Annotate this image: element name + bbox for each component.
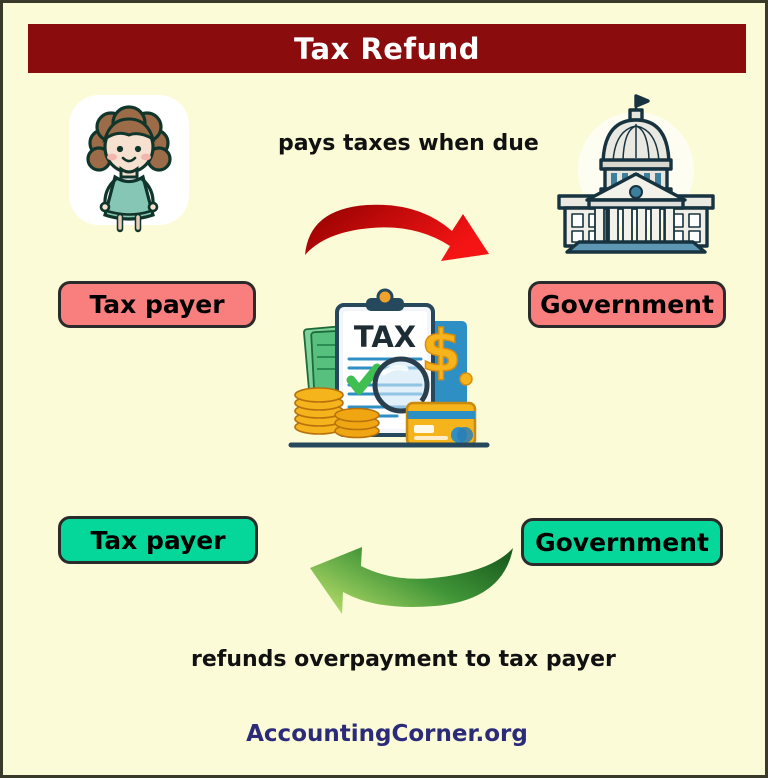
page-title: Tax Refund [294,32,480,66]
taxpayer-label-bottom[interactable]: Tax payer [58,516,258,564]
tax-clipboard-illustration: TAX $ [281,285,497,457]
top-flow-caption: pays taxes when due [278,131,539,156]
government-label-top-text: Government [540,290,714,319]
red-arrow-right-icon [303,193,493,273]
government-label-bottom[interactable]: Government [521,518,723,566]
svg-text:TAX: TAX [354,320,416,354]
girl-avatar-illustration [65,91,193,251]
bottom-flow-caption: refunds overpayment to tax payer [191,647,616,672]
diagram-canvas: Tax Refund [0,0,768,778]
capitol-building-illustration [543,88,729,256]
taxpayer-label-bottom-text: Tax payer [90,526,225,555]
government-label-bottom-text: Government [535,528,709,557]
green-arrow-left-icon [285,530,515,630]
title-bar: Tax Refund [28,24,746,73]
taxpayer-label-top[interactable]: Tax payer [58,281,256,328]
government-label-top[interactable]: Government [528,281,726,328]
site-watermark[interactable]: AccountingCorner.org [3,721,768,747]
taxpayer-label-top-text: Tax payer [89,290,224,319]
